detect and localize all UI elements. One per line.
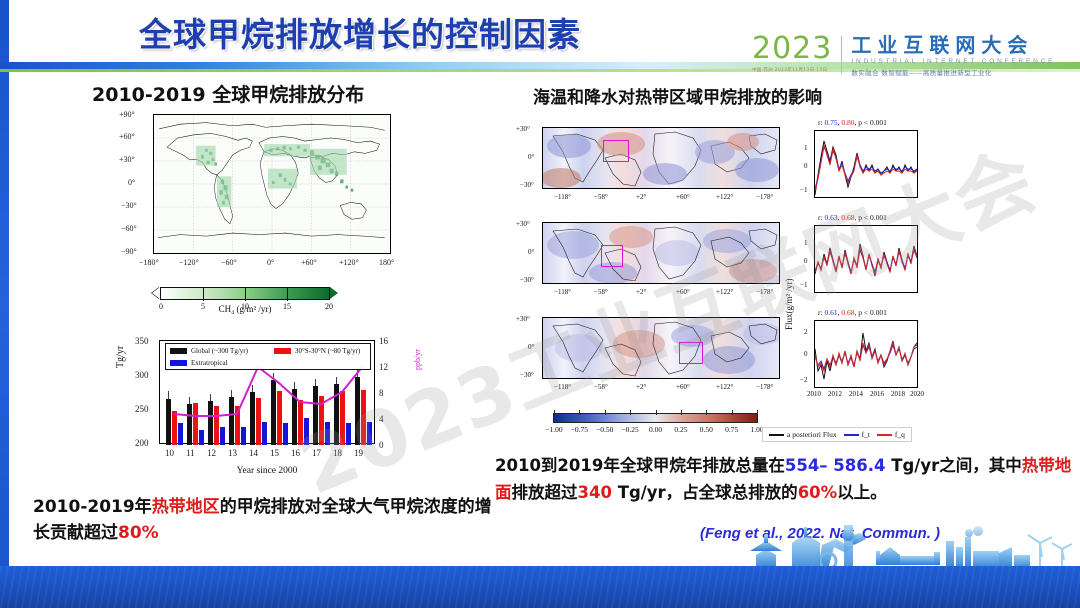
map-lat-tick: +90° — [119, 110, 135, 119]
correlation-colorbar-tick: 0.50 — [700, 425, 713, 434]
legend-label: a posteriori Flux — [787, 430, 837, 439]
timeseries-axes-3 — [814, 320, 918, 388]
legend-swatch-red-icon — [274, 348, 291, 354]
r-value-blue: 0.75 — [824, 118, 837, 127]
bar-ytick-left: 300 — [135, 370, 149, 380]
bar-xtick: 12 — [207, 448, 216, 458]
timeseries-correlation-label-2: r: 0.63, 0.68, p < 0.001 — [818, 213, 887, 222]
minimap-lat-tick: +30° — [516, 315, 530, 323]
logo-year-subtitle: 中国·苏州 2023年11月13日-15日 — [752, 67, 832, 73]
bar-ytick-right: 8 — [379, 388, 384, 398]
bar-xtick: 16 — [291, 448, 300, 458]
region-highlight-box-1 — [603, 140, 629, 162]
colorbar-right-cap — [330, 287, 338, 299]
minimap-lat-tick: −30° — [520, 371, 534, 379]
sst-correlation-map-2: +30° 0° −30° −118° −58° +2° +60° +122° −… — [510, 218, 790, 306]
minimap-lat-tick: 0° — [528, 153, 534, 161]
conclusion-highlight-60pct: 60% — [798, 483, 838, 502]
timeseries-correlation-label-3: r: 0.61, 0.68, p < 0.001 — [818, 308, 887, 317]
colorbar-caption: CH₄ (g/m² /yr) — [152, 304, 338, 314]
bar-chart-legend: Global (~300 Tg/yr) 30°S-30°N (~80 Tg/yr… — [165, 343, 371, 370]
timeseries-xtick: 2010 — [807, 390, 821, 398]
bar-chart-ylabel-right: ppb/yr — [413, 349, 422, 370]
bar-xtick: 15 — [270, 448, 279, 458]
methane-colorbar: 0 5 10 15 20 — [152, 287, 338, 300]
minimap-lon-tick: −58° — [594, 288, 608, 296]
minimap-lat-tick: 0° — [528, 343, 534, 351]
map-lat-tick: +30° — [119, 155, 135, 164]
colorbar-left-cap — [152, 287, 160, 299]
minimap-lon-tick: −178° — [756, 383, 773, 391]
minimap-lon-tick: −118° — [554, 288, 571, 296]
industrial-skyline-graphic — [560, 525, 1080, 570]
minimap-lon-tick: +122° — [716, 288, 733, 296]
sst-correlation-map-3: +30° 0° −30° −118° −58° +2° +60° +122° −… — [510, 313, 790, 401]
correlation-colorbar-tick: 0.75 — [725, 425, 738, 434]
conclusion-highlight-tropics: 热带地区 — [152, 497, 220, 517]
minimap-lon-tick: +2° — [636, 288, 646, 296]
correlation-colorbar-tick: −0.25 — [621, 425, 638, 434]
minimap-lon-tick: +122° — [716, 193, 733, 201]
map-lon-tick: −60° — [221, 258, 237, 267]
minimap-lon-tick: +60° — [676, 383, 690, 391]
map-lon-tick: +120° — [339, 258, 359, 267]
region-highlight-box-3 — [679, 342, 703, 364]
minimap-lat-tick: 0° — [528, 248, 534, 256]
legend-line-red-icon — [877, 434, 892, 436]
legend-item-fq: f_q — [877, 430, 905, 439]
r-value-red: 0.68 — [841, 308, 854, 317]
map-lat-tick: +60° — [119, 132, 135, 141]
p-value: p < 0.001 — [858, 118, 887, 127]
legend-item-posterior-flux: a posteriori Flux — [769, 430, 837, 439]
timeseries-ytick: 0 — [804, 162, 808, 170]
minimap-lon-tick: +2° — [636, 193, 646, 201]
sst-correlation-map-1: +30° 0° −30° −118° −58° +2° +60° +122° −… — [510, 123, 790, 211]
minimap-axes-2 — [542, 222, 780, 284]
minimap-lon-tick: −118° — [554, 193, 571, 201]
r-value-blue: 0.61 — [824, 308, 837, 317]
minimap-lat-tick: −30° — [520, 276, 534, 284]
conclusion-seg: Tg/yr，占全球总排放的 — [612, 483, 798, 502]
minimap-field-2 — [543, 223, 780, 284]
conclusion-highlight-340: 340 — [578, 483, 612, 502]
timeseries-xtick: 2016 — [870, 390, 884, 398]
bar-chart-xlabel: Year since 2000 — [159, 466, 375, 476]
legend-label: Extratropical — [191, 359, 228, 367]
flux-timeseries-3: r: 0.61, 0.68, p < 0.001 2 0 −2 2010 201… — [800, 308, 935, 413]
legend-item-ft: f_t — [844, 430, 870, 439]
correlation-colorbar-tick: −0.50 — [596, 425, 613, 434]
legend-item-tropics: 30°S-30°N (~80 Tg/yr) — [274, 347, 360, 355]
timeseries-xtick: 2018 — [891, 390, 905, 398]
flux-timeseries-1: r: 0.75, 0.80, p < 0.001 1 0 −1 — [800, 118, 920, 210]
minimap-lon-tick: −58° — [594, 193, 608, 201]
legend-label: 30°S-30°N (~80 Tg/yr) — [295, 347, 360, 355]
timeseries-curves-1 — [815, 131, 918, 198]
p-value: p < 0.001 — [858, 213, 887, 222]
map-lon-tick: 0° — [267, 258, 274, 267]
bar-xtick: 19 — [354, 448, 363, 458]
bar-xtick: 14 — [249, 448, 258, 458]
page-title: 全球甲烷排放增长的控制因素 — [139, 8, 739, 56]
legend-item-global: Global (~300 Tg/yr) — [170, 347, 248, 355]
logo-name-en: INDUSTRIAL INTERNET CONFERENCE — [851, 58, 1055, 65]
left-conclusion-text: 2010-2019年热带地区的甲烷排放对全球大气甲烷浓度的增长贡献超过80% — [33, 494, 503, 546]
conclusion-highlight-range: 554– 586.4 — [785, 456, 886, 475]
conference-logo: 2023 中国·苏州 2023年11月13日-15日 工业互联网大会 INDUS… — [752, 34, 1072, 80]
legend-swatch-black-icon — [170, 348, 187, 354]
legend-swatch-blue-icon — [170, 360, 187, 366]
minimap-lat-tick: −30° — [520, 181, 534, 189]
right-conclusion-text: 2010到2019年全球甲烷年排放总量在554– 586.4 Tg/yr之间，其… — [495, 452, 1075, 506]
bar-chart-ylabel-left: Tg/yr — [115, 346, 126, 368]
timeseries-ytick: 1 — [804, 239, 808, 247]
minimap-lon-tick: +60° — [676, 193, 690, 201]
bar-ytick-right: 0 — [379, 440, 384, 450]
timeseries-ytick: 2 — [804, 328, 808, 336]
right-section-title: 海温和降水对热带区域甲烷排放的影响 — [533, 83, 822, 108]
timeseries-xtick: 2012 — [828, 390, 842, 398]
timeseries-ylabel: Flux(g/m² /yr) — [784, 279, 794, 330]
logo-divider — [841, 36, 842, 74]
correlation-colorbar-tick: −0.75 — [571, 425, 588, 434]
logo-name-cn: 工业互联网大会 — [851, 34, 1055, 56]
flux-timeseries-2: r: 0.63, 0.68, p < 0.001 1 0 −1 — [800, 213, 920, 305]
bar-xtick: 18 — [333, 448, 342, 458]
minimap-axes-1 — [542, 127, 780, 189]
map-lon-tick: −180° — [139, 258, 159, 267]
timeseries-ytick: 1 — [804, 144, 808, 152]
p-value: p < 0.001 — [858, 308, 887, 317]
world-map-axes — [153, 114, 391, 254]
timeseries-xtick: 2020 — [910, 390, 924, 398]
conclusion-seg: 2010-2019年 — [33, 497, 152, 517]
region-highlight-box-2 — [601, 245, 623, 267]
minimap-lon-tick: −58° — [594, 383, 608, 391]
minimap-lon-tick: +2° — [636, 383, 646, 391]
legend-line-black-icon — [769, 434, 784, 436]
conclusion-seg: 排放超过 — [512, 483, 578, 502]
legend-label: f_q — [895, 430, 905, 439]
bar-ytick-left: 200 — [135, 438, 149, 448]
bar-xtick: 11 — [186, 448, 195, 458]
bar-ytick-left: 250 — [135, 404, 149, 414]
timeseries-axes-2 — [814, 225, 918, 293]
left-section-title: 2010-2019 全球甲烷排放分布 — [92, 80, 364, 107]
minimap-axes-3 — [542, 317, 780, 379]
legend-label: Global (~300 Tg/yr) — [191, 347, 248, 355]
bottom-decorative-band — [0, 566, 1080, 608]
timeseries-curves-2 — [815, 226, 918, 293]
map-lon-tick: −120° — [179, 258, 199, 267]
left-accent-bar — [0, 0, 9, 608]
correlation-colorbar-tick: −1.00 — [545, 425, 562, 434]
minimap-field-3 — [543, 318, 780, 379]
map-lon-tick: +60° — [301, 258, 317, 267]
minimap-lat-tick: +30° — [516, 220, 530, 228]
map-lat-tick: 0° — [128, 178, 135, 187]
timeseries-legend: a posteriori Flux f_t f_q — [762, 427, 912, 442]
skyline-svg — [560, 525, 1080, 570]
timeseries-ytick: −1 — [800, 281, 807, 289]
bar-ytick-right: 4 — [379, 414, 384, 424]
legend-item-extratropical: Extratropical — [170, 359, 228, 367]
bar-xtick: 17 — [312, 448, 321, 458]
map-lat-tick: −60° — [121, 224, 137, 233]
logo-year: 2023 — [752, 34, 832, 64]
colorbar-gradient — [160, 287, 330, 300]
map-lon-tick: 180° — [379, 258, 394, 267]
timeseries-ytick: 0 — [804, 350, 808, 358]
logo-tagline: 数实融合 数智赋能——高质量推进新型工业化 — [851, 67, 1055, 77]
minimap-lon-tick: −178° — [756, 288, 773, 296]
conclusion-seg: 以上。 — [837, 483, 887, 502]
conclusion-seg: 2010到2019年全球甲烷年排放总量在 — [495, 456, 785, 475]
bar-xtick: 10 — [165, 448, 174, 458]
world-map-coastlines — [154, 115, 390, 253]
bar-ytick-left: 350 — [135, 336, 149, 346]
minimap-field-1 — [543, 128, 780, 189]
bar-xtick: 13 — [228, 448, 237, 458]
timeseries-ytick: 0 — [804, 257, 808, 265]
r-value-red: 0.80 — [841, 118, 854, 127]
legend-label: f_t — [862, 430, 870, 439]
r-value-red: 0.68 — [841, 213, 854, 222]
correlation-colorbar-tick: 0.25 — [674, 425, 687, 434]
timeseries-correlation-label-1: r: 0.75, 0.80, p < 0.001 — [818, 118, 887, 127]
bar-ytick-right: 16 — [379, 336, 388, 346]
timeseries-curves-3 — [815, 321, 918, 388]
timeseries-xtick: 2014 — [849, 390, 863, 398]
legend-line-blue-icon — [844, 434, 859, 436]
minimap-lon-tick: −118° — [554, 383, 571, 391]
r-value-blue: 0.63 — [824, 213, 837, 222]
minimap-lon-tick: +122° — [716, 383, 733, 391]
timeseries-ytick: −1 — [800, 186, 807, 194]
conclusion-seg: Tg/yr之间，其中 — [886, 456, 1022, 475]
timeseries-axes-1 — [814, 130, 918, 198]
emission-bar-chart: Tg/yr ppb/yr 350 300 250 200 16 12 8 4 0 — [113, 330, 433, 480]
correlation-colorbar-tick: 0.00 — [649, 425, 662, 434]
minimap-lon-tick: +60° — [676, 288, 690, 296]
minimap-lat-tick: +30° — [516, 125, 530, 133]
map-lat-tick: −90° — [121, 247, 137, 256]
timeseries-ytick: −2 — [800, 376, 807, 384]
conclusion-highlight-percent: 80% — [118, 523, 159, 543]
global-methane-emission-map: +90° +60° +30° 0° −30° −60° −90° −180° −… — [113, 110, 413, 280]
correlation-colorbar: −1.00 −0.75 −0.50 −0.25 0.00 0.25 0.50 0… — [553, 413, 758, 423]
minimap-lon-tick: −178° — [756, 193, 773, 201]
bar-ytick-right: 12 — [379, 362, 388, 372]
map-lat-tick: −30° — [121, 201, 137, 210]
